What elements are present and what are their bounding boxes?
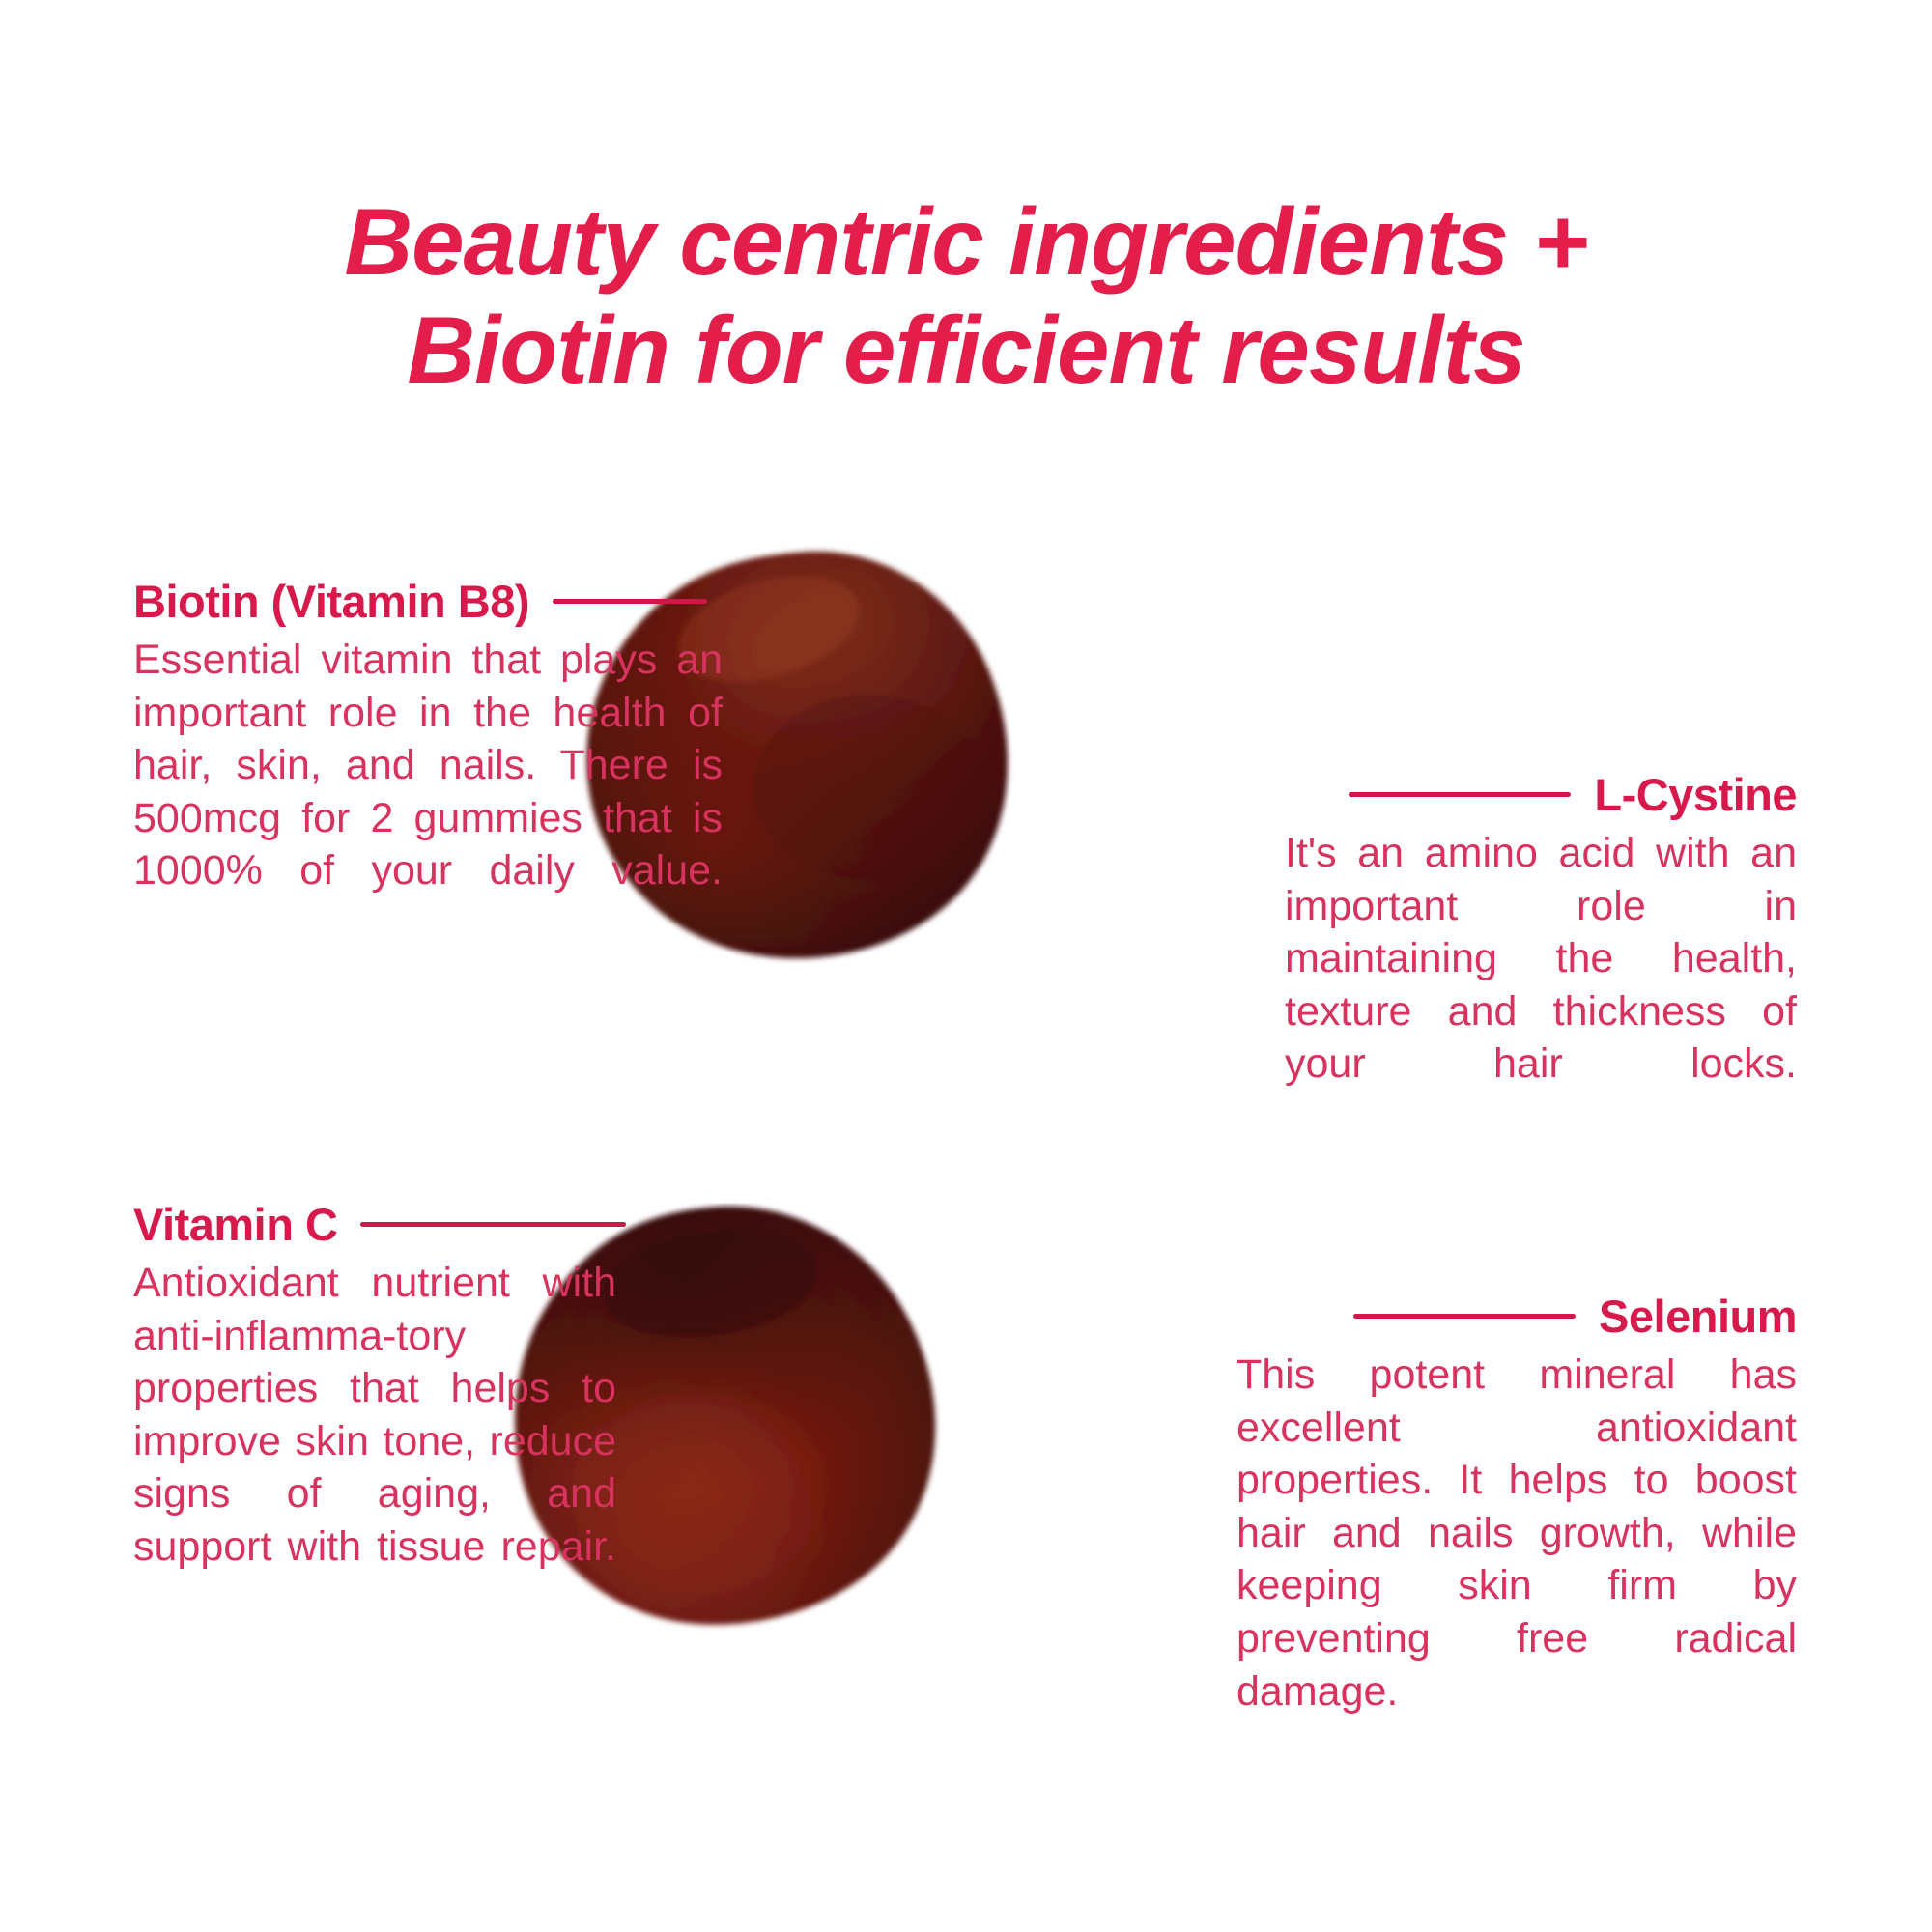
ingredient-block-vitamin-c: Vitamin C Antioxidant nutrient with anti… xyxy=(133,1198,616,1626)
connector-line-selenium xyxy=(1353,1314,1576,1319)
ingredient-block-selenium: Selenium This potent mineral has excelle… xyxy=(1236,1290,1797,1771)
connector-line-l-cystine xyxy=(1349,792,1571,797)
ingredient-description-selenium: This potent mineral has excellent antiox… xyxy=(1236,1349,1797,1771)
connector-line-biotin xyxy=(553,599,707,604)
ingredient-block-l-cystine: L-Cystine It's an amino acid with an imp… xyxy=(1285,768,1797,1144)
ingredient-title-selenium: Selenium xyxy=(1599,1290,1797,1343)
page-title-line-2: Biotin for efficient results xyxy=(174,297,1758,405)
infographic-page: Beauty centric ingredients + Biotin for … xyxy=(0,0,1932,1932)
ingredient-block-biotin: Biotin (Vitamin B8) Essential vitamin th… xyxy=(133,575,723,951)
ingredient-heading-row-selenium: Selenium xyxy=(1236,1290,1797,1343)
page-title: Beauty centric ingredients + Biotin for … xyxy=(174,188,1758,404)
connector-line-vitamin-c xyxy=(360,1222,626,1227)
ingredient-title-vitamin-c: Vitamin C xyxy=(133,1198,337,1251)
ingredient-description-l-cystine: It's an amino acid with an important rol… xyxy=(1285,827,1797,1144)
page-title-line-1: Beauty centric ingredients + xyxy=(174,188,1758,297)
ingredient-heading-row-l-cystine: L-Cystine xyxy=(1285,768,1797,821)
ingredient-description-vitamin-c: Antioxidant nutrient with anti-inflamma-… xyxy=(133,1257,616,1626)
ingredient-heading-row-vitamin-c: Vitamin C xyxy=(133,1198,616,1251)
ingredient-title-biotin: Biotin (Vitamin B8) xyxy=(133,575,529,628)
ingredient-description-biotin: Essential vitamin that plays an importan… xyxy=(133,634,723,951)
ingredient-heading-row-biotin: Biotin (Vitamin B8) xyxy=(133,575,723,628)
ingredient-title-l-cystine: L-Cystine xyxy=(1594,768,1797,821)
